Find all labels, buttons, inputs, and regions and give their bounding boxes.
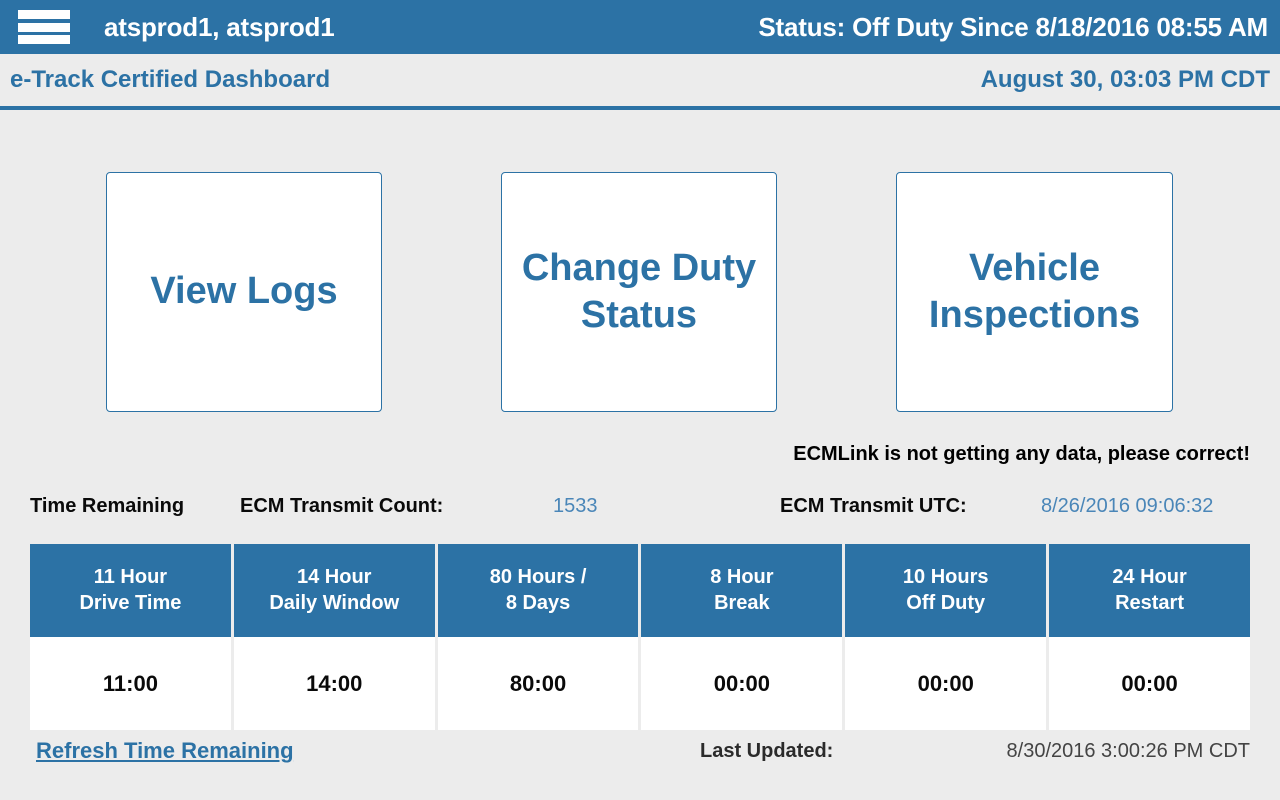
time-remaining-label: Time Remaining [30,495,184,518]
hamburger-bar-2 [18,23,70,32]
view-logs-button[interactable]: View Logs [106,172,382,412]
ecm-transmit-count-label: ECM Transmit Count: [240,495,443,518]
page-title: e-Track Certified Dashboard [10,66,330,94]
ecm-transmit-utc-label: ECM Transmit UTC: [780,495,967,518]
vehicle-inspections-button[interactable]: Vehicle Inspections [896,172,1173,412]
column-header-14-hour-daily-window: 14 Hour Daily Window [234,544,435,637]
ecmlink-warning-message: ECMLink is not getting any data, please … [0,443,1250,466]
column-header-11-hour-drive-time: 11 Hour Drive Time [30,544,231,637]
hamburger-menu-icon[interactable] [18,8,70,46]
table-header-row: 11 Hour Drive Time 14 Hour Daily Window … [30,544,1250,637]
app-bar: atsprod1, atsprod1 Status: Off Duty Sinc… [0,0,1280,54]
sub-header: e-Track Certified Dashboard August 30, 0… [0,54,1280,106]
value-11-hour-drive-time: 11:00 [30,637,231,730]
header-divider [0,106,1280,110]
dashboard-actions: View Logs Change Duty Status Vehicle Ins… [0,172,1280,412]
value-80-hours-8-days: 80:00 [438,637,639,730]
value-8-hour-break: 00:00 [641,637,842,730]
last-updated-label: Last Updated: [700,740,833,763]
last-updated-value: 8/30/2016 3:00:26 PM CDT [1007,740,1250,763]
duty-status-label: Status: Off Duty Since 8/18/2016 08:55 A… [758,12,1268,43]
column-header-10-hours-off-duty: 10 Hours Off Duty [845,544,1046,637]
column-header-80-hours-8-days: 80 Hours / 8 Days [438,544,639,637]
hours-of-service-table: 11 Hour Drive Time 14 Hour Daily Window … [30,544,1250,730]
current-user-label: atsprod1, atsprod1 [104,12,334,43]
hamburger-bar-3 [18,35,70,44]
value-14-hour-daily-window: 14:00 [234,637,435,730]
hamburger-bar-1 [18,10,70,19]
table-row: 11:00 14:00 80:00 00:00 00:00 00:00 [30,637,1250,730]
ecm-transmit-utc-value: 8/26/2016 09:06:32 [1041,495,1213,518]
view-logs-label: View Logs [150,268,337,315]
value-24-hour-restart: 00:00 [1049,637,1250,730]
column-header-24-hour-restart: 24 Hour Restart [1049,544,1250,637]
value-10-hours-off-duty: 00:00 [845,637,1046,730]
ecm-transmit-count-value: 1533 [553,495,598,518]
column-header-8-hour-break: 8 Hour Break [641,544,842,637]
change-duty-status-label: Change Duty Status [522,245,756,339]
change-duty-status-button[interactable]: Change Duty Status [501,172,777,412]
refresh-time-remaining-link[interactable]: Refresh Time Remaining [36,738,294,764]
current-datetime-label: August 30, 03:03 PM CDT [981,66,1270,94]
dashboard-footer: Refresh Time Remaining Last Updated: 8/3… [0,738,1280,772]
ecm-info-row: Time Remaining ECM Transmit Count: 1533 … [0,495,1280,525]
vehicle-inspections-label: Vehicle Inspections [929,245,1140,339]
